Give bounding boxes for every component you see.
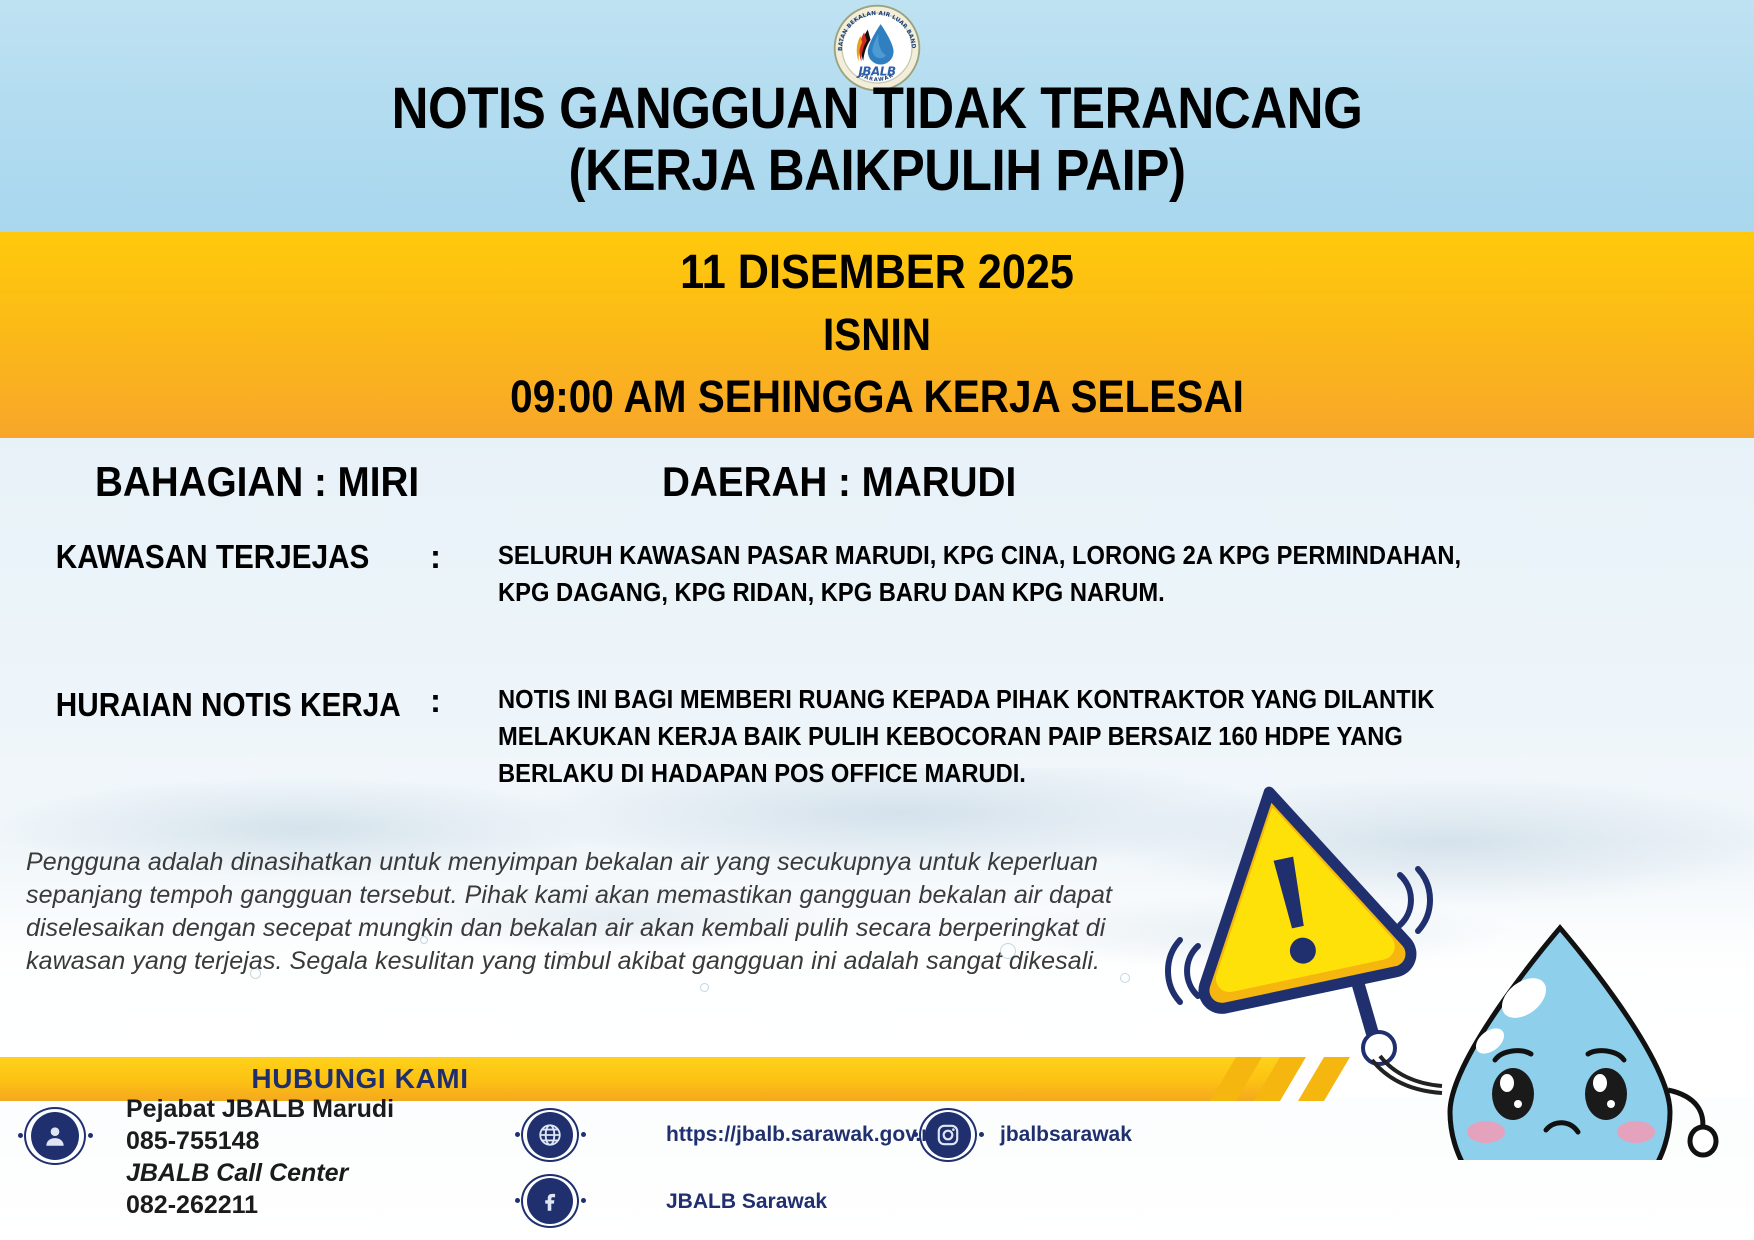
page-title: NOTIS GANGGUAN TIDAK TERANCANG (KERJA BA… (0, 78, 1754, 202)
bahagian-label: BAHAGIAN : MIRI (95, 458, 419, 506)
affected-area-value: SELURUH KAWASAN PASAR MARUDI, KPG CINA, … (498, 538, 1493, 612)
affected-area-label: KAWASAN TERJEJAS (0, 538, 387, 612)
work-description-colon: : (430, 682, 498, 793)
work-description-label: HURAIAN NOTIS KERJA (0, 682, 387, 793)
office-name: Pejabat JBALB Marudi (126, 1095, 394, 1124)
region-row: BAHAGIAN : MIRI DAERAH : MARUDI (0, 458, 1754, 506)
disclaimer-text: Pengguna adalah dinasihatkan untuk menyi… (26, 846, 1116, 978)
contact-bar-title: HUBUNGI KAMI (251, 1063, 468, 1095)
facebook-link[interactable]: JBALB Sarawak (666, 1190, 827, 1214)
decorative-slashes (1210, 1057, 1400, 1101)
call-center-phone: 082-262211 (126, 1191, 258, 1220)
affected-area-row: KAWASAN TERJEJAS : SELURUH KAWASAN PASAR… (0, 538, 1754, 612)
daerah-label: DAERAH : MARUDI (662, 458, 1016, 506)
notice-time: 09:00 AM SEHINGGA KERJA SELESAI (88, 366, 1667, 428)
title-line-1: NOTIS GANGGUAN TIDAK TERANCANG (105, 78, 1649, 140)
instagram-handle[interactable]: jbalbsarawak (1000, 1123, 1132, 1147)
outage-notice-poster: JABATAN BEKALAN AIR LUAR BANDAR SARAWAK … (0, 0, 1754, 1240)
date-time-banner: 11 DISEMBER 2025 ISNIN 09:00 AM SEHINGGA… (0, 232, 1754, 438)
office-phone: 085-755148 (126, 1127, 259, 1156)
call-center-label: JBALB Call Center (126, 1159, 348, 1188)
notice-day: ISNIN (88, 304, 1667, 366)
title-line-2: (KERJA BAIKPULIH PAIP) (105, 140, 1649, 202)
poster-header: JABATAN BEKALAN AIR LUAR BANDAR SARAWAK … (0, 0, 1754, 232)
notice-date: 11 DISEMBER 2025 (88, 242, 1667, 304)
contact-details: Pejabat JBALB Marudi 085-755148 JBALB Ca… (0, 1101, 1754, 1240)
affected-area-colon: : (430, 538, 498, 612)
